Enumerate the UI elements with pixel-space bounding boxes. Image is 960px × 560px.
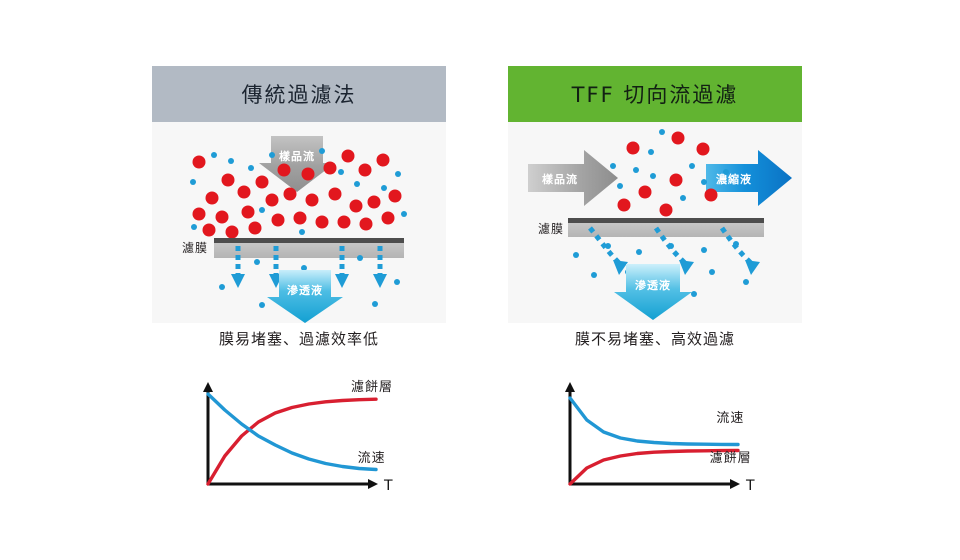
feed-flow-label: 樣品流	[542, 172, 578, 186]
permeate-label: 滲透液	[635, 278, 671, 292]
chart-series-label: 濾餅層	[351, 380, 393, 395]
chart-series-line	[208, 399, 376, 484]
panel-header-conventional: 傳統過濾法	[152, 66, 446, 122]
panel-body-tff: 樣品流 濃縮液	[508, 122, 802, 323]
chart-tff: T流速濾餅層	[552, 372, 792, 507]
retentate-label: 濃縮液	[716, 172, 752, 186]
membrane-layer	[568, 218, 764, 237]
panel-title-tff: TFF 切向流過濾	[572, 79, 739, 109]
membrane-layer	[214, 238, 404, 258]
caption-tff: 膜不易堵塞、高效過濾	[508, 328, 802, 349]
chart-series-label: 流速	[358, 451, 386, 466]
panel-conventional-filtration: 傳統過濾法	[152, 66, 446, 323]
membrane-label: 濾膜	[538, 221, 564, 236]
tff-filtration-illustration: 樣品流 濃縮液	[508, 122, 802, 323]
panel-body-conventional: 樣品流	[152, 122, 446, 323]
panel-tff-filtration: TFF 切向流過濾	[508, 66, 802, 323]
membrane-label: 濾膜	[182, 240, 208, 255]
chart-series-label: 濾餅層	[710, 451, 752, 466]
caption-conventional: 膜易堵塞、過濾效率低	[152, 328, 446, 349]
panel-header-tff: TFF 切向流過濾	[508, 66, 802, 122]
chart-series-line	[570, 398, 738, 445]
svg-text:T: T	[745, 478, 755, 494]
chart-conventional: T濾餅層流速	[190, 372, 430, 507]
conventional-filtration-illustration: 樣品流	[152, 122, 446, 323]
permeate-label: 滲透液	[287, 283, 323, 297]
feed-flow-arrow	[259, 136, 335, 192]
diagram-canvas: 傳統過濾法	[0, 0, 960, 560]
svg-text:T: T	[383, 478, 393, 494]
panel-title-conventional: 傳統過濾法	[242, 79, 357, 109]
chart-series-line	[208, 394, 376, 470]
chart-series-label: 流速	[716, 411, 744, 426]
feed-flow-label: 樣品流	[279, 149, 315, 163]
